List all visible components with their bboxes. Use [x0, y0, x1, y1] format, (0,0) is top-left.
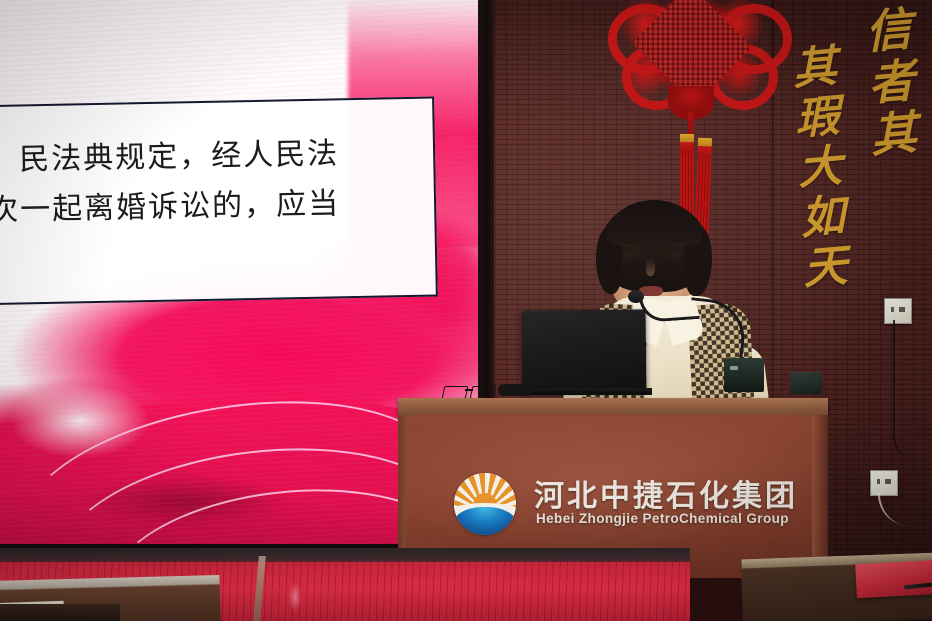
laptop-hinge	[520, 388, 652, 395]
eyeglasses	[443, 386, 499, 397]
laptop-base	[498, 384, 532, 396]
water-wave	[454, 507, 516, 535]
red-notebook	[855, 560, 932, 598]
slide-text-panel: ，民法典规定，经人民法 次一起离婚诉讼的，应当	[0, 97, 438, 306]
glasses-bridge	[465, 389, 473, 391]
company-name-chinese: 河北中捷石化集团	[534, 471, 798, 515]
nose	[646, 258, 655, 276]
microphone-base	[724, 358, 764, 392]
slide-text-line-1: ，民法典规定，经人民法	[0, 128, 339, 179]
outlet-holes	[891, 307, 905, 312]
tassel-cap	[697, 138, 712, 158]
chinese-knot-decoration	[604, 0, 780, 206]
tassel-cap	[680, 134, 694, 154]
sunrise-water-logo-icon	[454, 473, 516, 535]
company-name-english: Hebei Zhongjie PetroChemical Group	[536, 511, 789, 526]
floor-reflection	[286, 576, 304, 618]
podium-top-trim	[398, 398, 828, 415]
outlet-cable	[893, 320, 917, 460]
wall-calligraphy: 信者其 其瑕大如天	[780, 0, 930, 320]
podium-right-edge	[812, 415, 828, 578]
slide-text-line-2: 次一起离婚诉讼的，应当	[0, 178, 340, 229]
laptop-lid[interactable]	[522, 309, 647, 392]
conference-photo: 信者其 其瑕大如天	[0, 0, 932, 621]
stage-floor-shadow	[0, 548, 690, 562]
calligraphy-column-2: 其瑕大如天	[785, 42, 844, 295]
foreground-shadow	[0, 604, 120, 621]
eye-right	[668, 252, 681, 258]
podium-device	[790, 372, 822, 394]
calligraphy-column-1: 信者其	[860, 4, 916, 164]
outlet-holes	[877, 479, 891, 484]
bangs	[606, 218, 702, 248]
microphone-indicator	[730, 366, 738, 370]
eye-left	[624, 252, 637, 258]
microphone-capsule	[628, 290, 644, 303]
